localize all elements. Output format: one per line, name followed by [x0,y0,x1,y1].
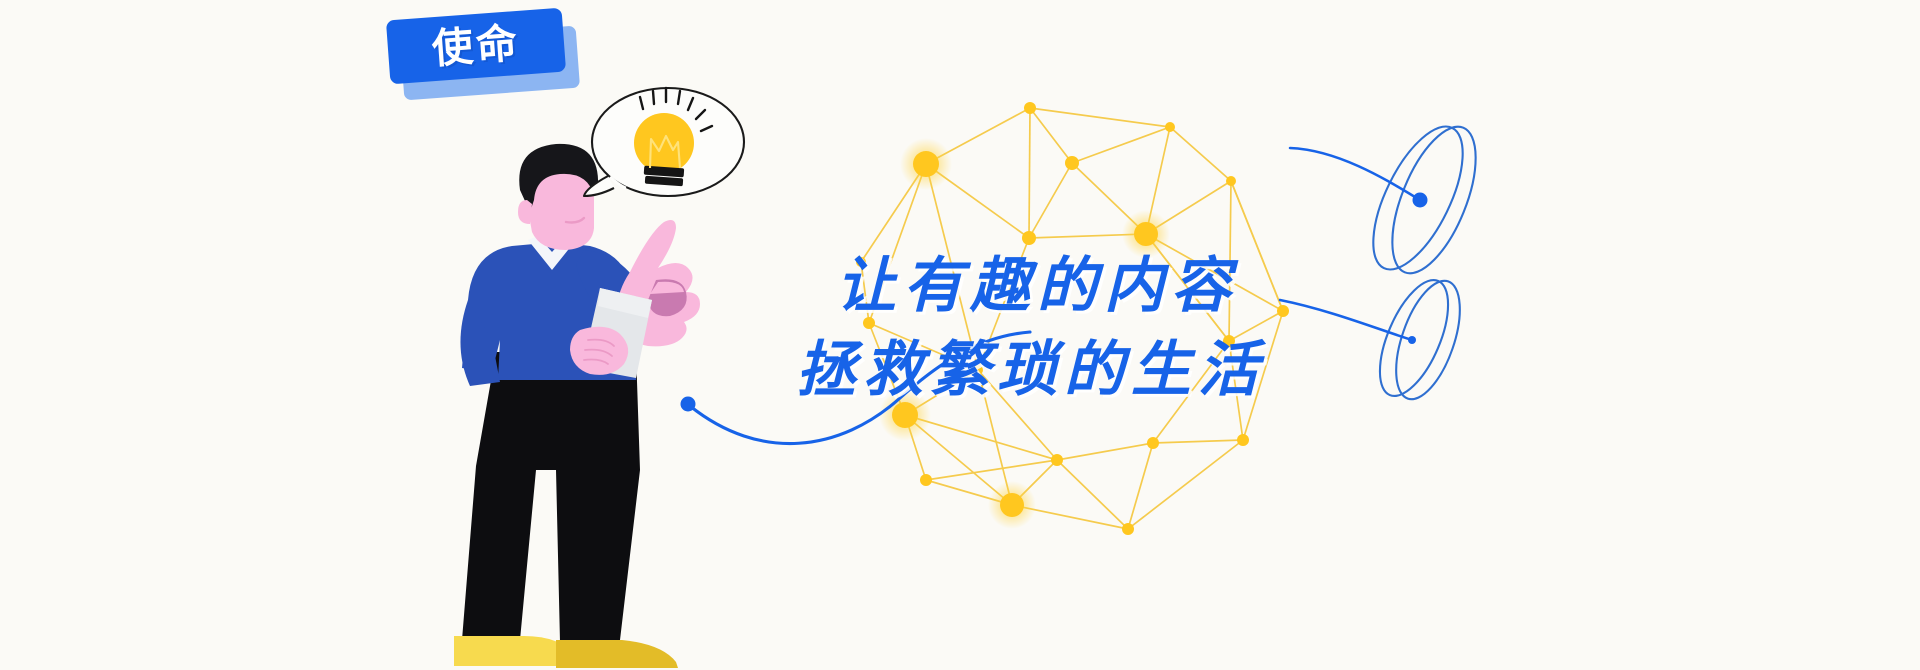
headline-line-2: 拯救繁琐的生活 [796,328,1556,412]
headline-line-1: 让有趣的内容 [836,244,1556,328]
badge-body[interactable]: 使命 [386,8,566,85]
badge-label: 使命 [431,22,522,69]
mission-badge[interactable]: 使命 [388,14,574,100]
banner-canvas: 使命 让有趣的内容 拯救繁琐的生活 [0,0,1920,670]
headline-block: 让有趣的内容 拯救繁琐的生活 [836,244,1556,412]
